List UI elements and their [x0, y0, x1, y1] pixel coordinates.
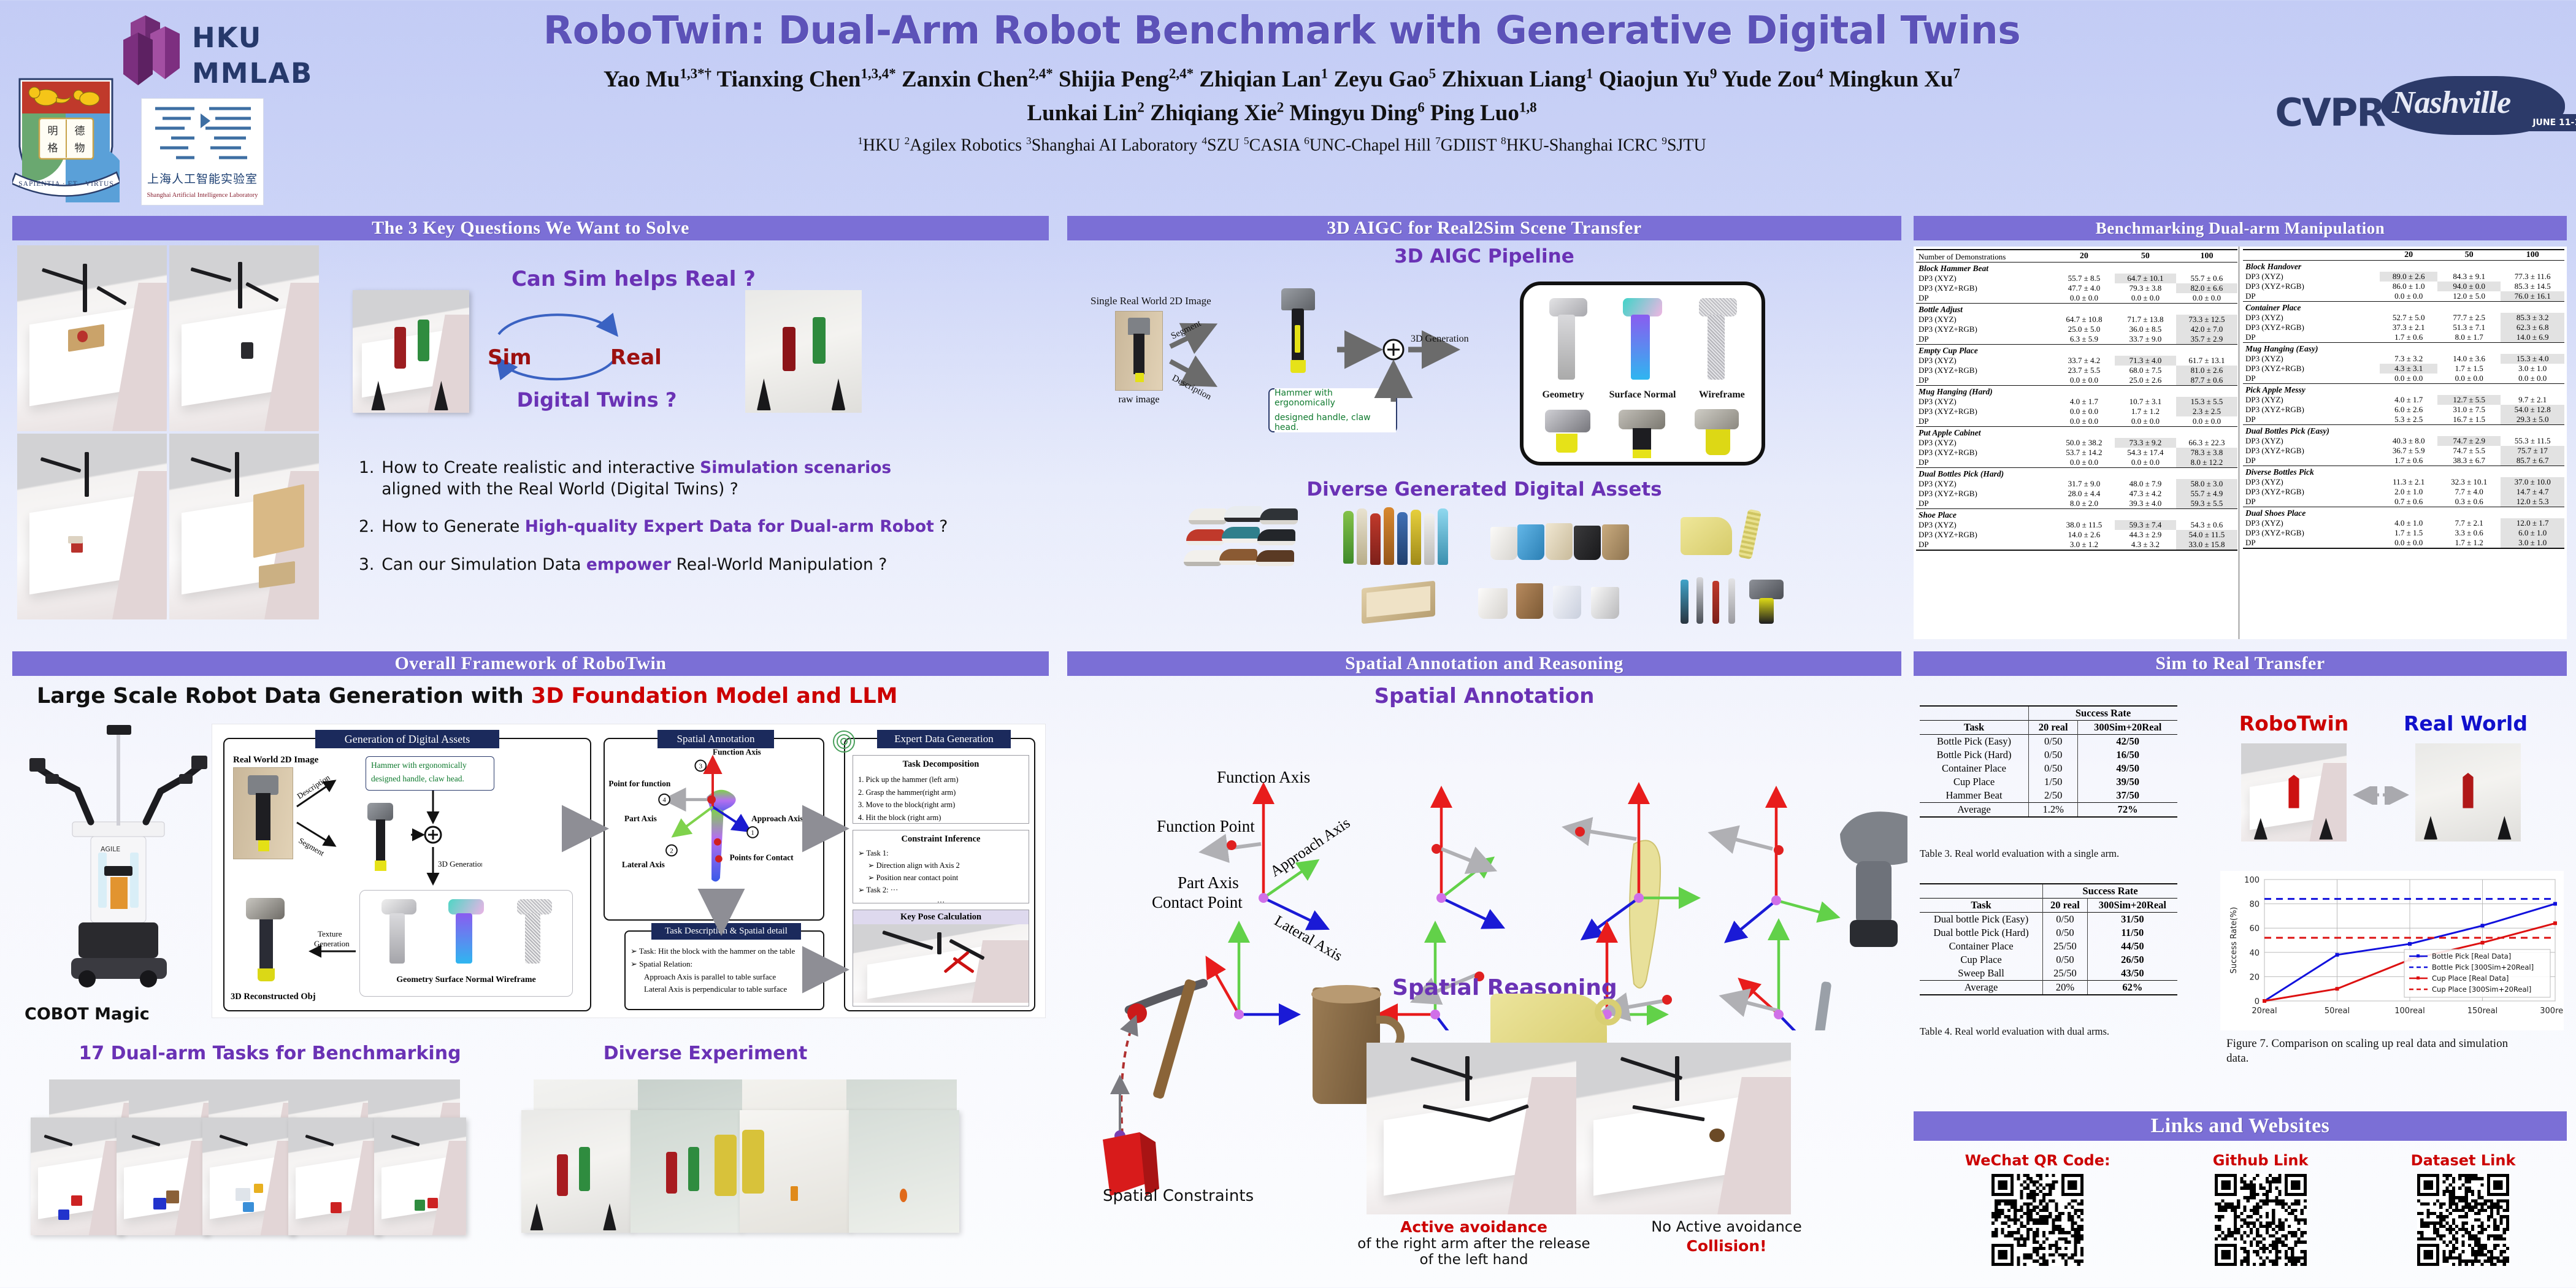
question-3-pre: Can our Simulation Data	[381, 555, 586, 574]
digital-assets-gallery	[1184, 506, 1883, 626]
realworld-image	[2415, 743, 2521, 841]
svg-text:Part Axis: Part Axis	[1178, 873, 1239, 892]
links-row: WeChat QR Code: Github Link Dataset Link	[1914, 1147, 2567, 1288]
poster-root: 明 德 格 物 SAPIENTIA · ET · VIRTUS HKU M	[0, 0, 2576, 1288]
spatial-constraints-diagram: Spatial Constraints	[1098, 963, 1313, 1208]
spiral-icon	[830, 728, 857, 755]
hku-crest-logo: 明 德 格 物 SAPIENTIA · ET · VIRTUS	[12, 71, 120, 202]
svg-text:Point for function: Point for function	[608, 779, 671, 788]
table3-container: Success RateTask20 real300Sim+20RealBott…	[1920, 705, 2177, 871]
wechat-qr-code[interactable]	[1991, 1174, 2083, 1266]
fw-desc-line2: designed handle, claw head.	[371, 774, 489, 784]
question-item-1: 1. How to Create realistic and interacti…	[359, 457, 1046, 500]
shanghai-lab-en-text: Shanghai Artificial Intelligence Laborat…	[142, 192, 263, 199]
svg-text:Points for Contact: Points for Contact	[730, 853, 794, 862]
framework-headline-mid: with	[464, 684, 531, 708]
collision-label: Collision!	[1607, 1237, 1846, 1255]
svg-text:格: 格	[48, 142, 58, 155]
constraint-item-4: ➢ Task 2: ···	[858, 884, 1024, 896]
svg-text:0: 0	[2255, 997, 2260, 1006]
question-1-pre: How to Create realistic and interactive	[381, 458, 700, 477]
diverse-assets-title: Diverse Generated Digital Assets	[1067, 478, 1901, 500]
link-github[interactable]: Github Link	[2213, 1152, 2309, 1266]
cvpr-nashville-guitar: Nashville JUNE 11-15, 2025	[2381, 76, 2565, 135]
segmented-hammer	[1275, 286, 1322, 378]
poster-title: RoboTwin: Dual-Arm Robot Benchmark with …	[343, 9, 2220, 53]
question-3-post: Real-World Manipulation ?	[671, 555, 887, 574]
no-avoidance-title: No Active avoidance	[1607, 1218, 1846, 1235]
taskdesc-line-4: Lateral Axis is perpendicular to table s…	[631, 983, 818, 996]
question-item-3: 3. Can our Simulation Data empower Real-…	[359, 554, 1046, 575]
fw-desc-line1: Hammer with ergonomically	[371, 761, 489, 770]
taskdesc-line-1: ➢ Task: Hit the block with the hammer on…	[631, 945, 818, 958]
svg-text:300real: 300real	[2540, 1006, 2564, 1016]
svg-text:3: 3	[699, 762, 702, 770]
svg-text:20real: 20real	[2252, 1006, 2277, 1016]
authors-text-1: Yao Mu1,3*† Tianxing Chen1,3,4* Zanxin C…	[604, 67, 1960, 92]
raw-hammer-photo	[1115, 311, 1163, 391]
real-2d-hammer-photo	[233, 767, 293, 859]
question-1-line2: aligned with the Real World (Digital Twi…	[381, 480, 738, 499]
segment-label: Segment	[297, 836, 326, 858]
svg-text:Bottle Pick [300Sim+20Real]: Bottle Pick [300Sim+20Real]	[2432, 963, 2534, 972]
svg-text:100real: 100real	[2394, 1006, 2425, 1016]
table3-caption: Table 3. Real world evaluation with a si…	[1920, 848, 2202, 860]
taskdesc-line-2: ➢ Spatial Relation:	[631, 958, 818, 971]
sim-thumb-1	[17, 245, 167, 431]
constraint-item-3: ➢ Position near contact point	[858, 872, 1024, 884]
real-label: Real	[610, 345, 662, 370]
key-questions-list: 1. How to Create realistic and interacti…	[359, 457, 1046, 616]
benchmark-table-right: 2050100Block HandoverDP3 (XYZ)89.0 ± 2.6…	[2243, 249, 2564, 550]
render-textured-1	[1532, 405, 1603, 462]
authors-line-1: Yao Mu1,3*† Tianxing Chen1,3,4* Zanxin C…	[343, 64, 2220, 96]
renders-row-box: Geometry Surface Normal Wireframe	[359, 890, 573, 997]
svg-text:80: 80	[2249, 900, 2260, 910]
svg-text:Lateral Axis: Lateral Axis	[622, 860, 665, 869]
banner-3d-aigc: 3D AIGC for Real2Sim Scene Transfer	[1067, 216, 1901, 240]
svg-text:1: 1	[751, 829, 754, 837]
render-label-wireframe: Wireframe	[1682, 389, 1761, 401]
asset-group-mugs	[1490, 516, 1644, 577]
asset-group-dustpan-broom	[1674, 506, 1809, 573]
question-2-pre: How to Generate	[381, 517, 524, 536]
sim-scene-image	[353, 290, 469, 413]
render-textured-3	[1682, 405, 1753, 462]
aigc-branch-arrows: Segment Description	[1165, 311, 1276, 421]
svg-text:Approach Axis: Approach Axis	[751, 814, 803, 823]
banner-key-questions: The 3 Key Questions We Want to Solve	[12, 216, 1049, 240]
decomp-item-2: 2. Grasp the hammer(right arm)	[858, 786, 1024, 799]
svg-text:Function Point: Function Point	[1157, 817, 1255, 835]
active-avoidance-panel	[1367, 1043, 1581, 1214]
sim-thumb-3	[17, 434, 167, 619]
constraint-item-5: ···	[858, 896, 1024, 908]
table4-caption: Table 4. Real world evaluation with dual…	[1920, 1025, 2202, 1038]
question-2-highlight: High-quality Expert Data for Dual-arm Ro…	[525, 517, 934, 536]
cvpr-logo: CVPR Nashville JUNE 11-15, 2025	[2258, 18, 2565, 135]
shanghai-lab-cn-text: 上海人工智能实验室	[142, 170, 263, 186]
svg-text:AGILE: AGILE	[101, 845, 120, 853]
tasks-benchmarking-title: 17 Dual-arm Tasks for Benchmarking	[74, 1043, 466, 1064]
key-pose-sim-image	[853, 924, 1029, 1003]
question-2-post: ?	[934, 517, 948, 536]
3d-generation-label: 3D Generation	[1411, 334, 1469, 344]
task-decomposition-title: Task Decomposition	[853, 759, 1029, 770]
expert-data-generation-box: Expert Data Generation Task Decompositio…	[844, 738, 1035, 1011]
github-link-label: Github Link	[2213, 1152, 2309, 1169]
logo-group-left: 明 德 格 物 SAPIENTIA · ET · VIRTUS HKU M	[12, 6, 368, 209]
question-2-text: How to Generate High-quality Expert Data…	[381, 516, 948, 537]
question-item-2: 2. How to Generate High-quality Expert D…	[359, 516, 1046, 537]
svg-text:2: 2	[670, 847, 673, 854]
hku-mmlab-line2: MMLAB	[192, 57, 313, 90]
asset-group-boxes	[1362, 578, 1460, 624]
segmented-hammer-2	[363, 802, 399, 875]
spatial-constraints-label: Spatial Constraints	[1103, 1187, 1254, 1205]
question-3-number: 3.	[359, 554, 374, 575]
texture-label-1: Texture	[318, 929, 342, 938]
aigc-pipeline-title: 3D AIGC Pipeline	[1067, 245, 1901, 267]
render-surface-normal	[1607, 296, 1678, 387]
hku-mmlab-logo: HKU MMLAB	[120, 15, 365, 95]
question-1-highlight: Simulation scenarios	[700, 458, 891, 477]
robotwin-sim-image	[2241, 743, 2347, 841]
real-scene-image	[745, 290, 862, 413]
hammer-desc-box-2: Hammer with ergonomically designed handl…	[366, 756, 494, 791]
sim-label: Sim	[488, 345, 532, 370]
aigc-merge-arrows: 3D Generation	[1325, 316, 1490, 439]
asset-group-shoes	[1184, 506, 1337, 573]
question-1-number: 1.	[359, 457, 374, 500]
box-title-generation: Generation of Digital Assets	[315, 730, 499, 748]
svg-text:Cup Place [Real Data]: Cup Place [Real Data]	[2432, 974, 2509, 983]
dataset-link-label: Dataset Link	[2411, 1152, 2516, 1169]
decomp-item-4: 4. Hit the block (right arm)	[858, 811, 1024, 824]
svg-text:Contact Point: Contact Point	[1152, 893, 1243, 911]
generated-renders-box: Geometry Surface Normal Wireframe	[1520, 282, 1765, 466]
fig7-caption-line2: data.	[2226, 1051, 2570, 1066]
cobot-magic-robot-image: AGILE	[18, 724, 215, 1006]
fw-3d-generation-label: 3D Generation	[438, 859, 482, 868]
wechat-qr-label: WeChat QR Code:	[1965, 1152, 2110, 1169]
svg-text:Success Rate(%): Success Rate(%)	[2229, 907, 2239, 974]
svg-text:Function Axis: Function Axis	[713, 748, 761, 757]
render-label-surface-normal: Surface Normal	[1603, 389, 1682, 401]
render-label-geometry: Geometry	[1524, 389, 1603, 401]
key-pose-calculation-title: Key Pose Calculation	[853, 910, 1029, 924]
cvpr-city-label: Nashville	[2392, 85, 2510, 121]
task-description-box: Task Description & Spatial detail ➢ Task…	[624, 930, 824, 1010]
sim-real-link-arrow	[2350, 786, 2412, 805]
active-avoidance-sub2: of the left hand	[1342, 1252, 1606, 1268]
robotwin-label: RoboTwin	[2239, 711, 2349, 735]
benchmark-table-left: Number of Demonstrations2050100Block Ham…	[1916, 249, 2237, 551]
sim-thumbnail-grid	[17, 245, 319, 619]
constraint-item-2: ➢ Direction align with Axis 2	[858, 859, 1024, 872]
svg-text:Part Axis: Part Axis	[624, 814, 657, 823]
banner-sim-to-real: Sim to Real Transfer	[1914, 651, 2567, 676]
render-textured-2	[1607, 405, 1678, 462]
renders-row-labels: Geometry Surface Normal Wireframe	[360, 975, 572, 985]
affiliations: 1HKU 2Agilex Robotics 3Shanghai AI Labor…	[343, 135, 2220, 155]
cvpr-date-label: JUNE 11-15, 2025	[2528, 114, 2576, 131]
table3-table: Success RateTask20 real300Sim+20RealBott…	[1920, 705, 2177, 819]
active-avoidance-title: Active avoidance	[1342, 1218, 1606, 1236]
active-avoidance-sub1: of the right arm after the release	[1342, 1236, 1606, 1252]
svg-text:40: 40	[2249, 949, 2260, 958]
svg-text:物: 物	[75, 142, 85, 155]
decomp-item-1: 1. Pick up the hammer (left arm)	[858, 773, 1024, 786]
dataset-qr-code[interactable]	[2417, 1174, 2509, 1266]
benchmark-table-container: Number of Demonstrations2050100Block Ham…	[1914, 247, 2567, 639]
render-wireframe	[1682, 296, 1753, 387]
spatial-annotation-title: Spatial Annotation	[1067, 684, 1901, 708]
poster-header: 明 德 格 物 SAPIENTIA · ET · VIRTUS HKU M	[0, 0, 2576, 215]
active-avoidance-caption: Active avoidance of the right arm after …	[1342, 1218, 1606, 1279]
svg-text:4: 4	[662, 797, 666, 804]
tasks-thumbnail-stack	[25, 1079, 478, 1263]
link-wechat[interactable]: WeChat QR Code:	[1965, 1152, 2110, 1266]
svg-text:Cup Place [300Sim+20Real]: Cup Place [300Sim+20Real]	[2432, 985, 2531, 994]
spatial-annotation-box: Spatial Annotation	[604, 738, 824, 921]
fig7-caption-line1: Figure 7. Comparison on scaling up real …	[2226, 1037, 2570, 1051]
no-avoidance-caption: No Active avoidance Collision!	[1607, 1218, 1846, 1279]
svg-text:150real: 150real	[2467, 1006, 2497, 1016]
svg-text:SAPIENTIA · ET · VIRTUS: SAPIENTIA · ET · VIRTUS	[18, 180, 113, 188]
hku-mmlab-line1: HKU	[192, 21, 262, 54]
banner-links: Links and Websites	[1914, 1111, 2567, 1141]
realworld-label: Real World	[2404, 711, 2528, 735]
svg-text:60: 60	[2249, 924, 2260, 933]
shanghai-ai-lab-logo: 上海人工智能实验室 Shanghai Artificial Intelligen…	[141, 98, 264, 205]
question-3-highlight: empower	[586, 555, 671, 574]
box-title-task-description: Task Description & Spatial detail	[651, 923, 801, 940]
github-qr-code[interactable]	[2215, 1174, 2307, 1266]
authors-text-2: Lunkai Lin2 Zhiqiang Xie2 Mingyu Ding6 P…	[1027, 101, 1536, 126]
svg-text:50real: 50real	[2325, 1006, 2350, 1016]
render-geometry	[1532, 296, 1603, 387]
constraint-item-1: ➢ Task 1:	[858, 847, 1024, 859]
texture-label-2: Generation	[314, 939, 350, 948]
svg-text:100: 100	[2244, 876, 2260, 885]
single-real-2d-label: Single Real World 2D Image	[1091, 295, 1211, 307]
figure7-chart: 02040608010020real50real100real150real30…	[2220, 871, 2564, 1030]
sim-thumb-4	[169, 434, 319, 619]
svg-text:明: 明	[48, 125, 58, 137]
real-2d-image-label: Real World 2D Image	[233, 755, 318, 765]
3d-reconstructed-obj-label: 3D Reconstructed Obj	[231, 992, 316, 1002]
generation-digital-assets-box: Generation of Digital Assets Real World …	[223, 738, 591, 1011]
framework-diagram: Generation of Digital Assets Real World …	[212, 724, 1046, 1018]
taskdesc-line-3: Approach Axis is parallel to table surfa…	[631, 971, 818, 984]
link-dataset[interactable]: Dataset Link	[2411, 1152, 2516, 1266]
decomp-item-3: 3. Move to the block(right arm)	[858, 799, 1024, 811]
svg-text:Approach Axis: Approach Axis	[1267, 815, 1353, 880]
cobot-magic-label: COBOT Magic	[25, 1005, 221, 1024]
table4-container: Success RateTask20 real300Sim+20RealDual…	[1920, 883, 2177, 1049]
sim-real-comparison-images: RoboTwin Real World	[2208, 711, 2564, 865]
box-title-expert-data: Expert Data Generation	[877, 730, 1011, 748]
description-arrow-label: Description	[1170, 373, 1213, 402]
sim-real-diagram: Can Sim helps Real ? Sim Real Digital Tw…	[353, 267, 1046, 426]
svg-text:德: 德	[75, 125, 85, 137]
svg-text:Bottle Pick [Real Data]: Bottle Pick [Real Data]	[2432, 952, 2511, 960]
authors-line-2: Lunkai Lin2 Zhiqiang Xie2 Mingyu Ding6 P…	[343, 98, 2220, 130]
banner-overall-framework: Overall Framework of RoboTwin	[12, 651, 1049, 676]
can-sim-help-real-label: Can Sim helps Real ?	[505, 267, 762, 291]
constraint-inference-title: Constraint Inference	[853, 834, 1029, 845]
asset-group-cups	[1478, 580, 1662, 624]
reconstructed-hammer	[240, 896, 293, 987]
framework-headline: Large Scale Robot Data Generation with 3…	[37, 684, 1043, 708]
diverse-experiment-title: Diverse Experiment	[509, 1043, 902, 1064]
function-axis-label: Function Axis	[1217, 768, 1310, 786]
diverse-experiment-stack	[521, 1079, 987, 1263]
framework-headline-pre: Large Scale Robot Data Generation	[37, 684, 464, 708]
asset-group-bottles	[1337, 505, 1472, 575]
cvpr-wordmark: CVPR	[2275, 90, 2385, 135]
svg-text:20: 20	[2249, 973, 2260, 982]
framework-headline-highlight: 3D Foundation Model and LLM	[531, 684, 898, 708]
question-1-text: How to Create realistic and interactive …	[381, 457, 891, 500]
asset-group-tools	[1681, 577, 1865, 626]
question-2-number: 2.	[359, 516, 374, 537]
banner-spatial: Spatial Annotation and Reasoning	[1067, 651, 1901, 676]
table4-table: Success RateTask20 real300Sim+20RealDual…	[1920, 883, 2177, 997]
sim-thumb-2	[169, 245, 319, 431]
no-avoidance-panel	[1576, 1043, 1791, 1214]
banner-benchmarking: Benchmarking Dual-arm Manipulation	[1914, 216, 2567, 240]
question-3-text: Can our Simulation Data empower Real-Wor…	[381, 554, 887, 575]
raw-image-caption: raw image	[1115, 394, 1163, 405]
title-block: RoboTwin: Dual-Arm Robot Benchmark with …	[343, 9, 2220, 155]
aigc-pipeline-diagram: Single Real World 2D Image raw image Seg…	[1079, 279, 1895, 481]
digital-twins-label: Digital Twins ?	[505, 388, 689, 412]
